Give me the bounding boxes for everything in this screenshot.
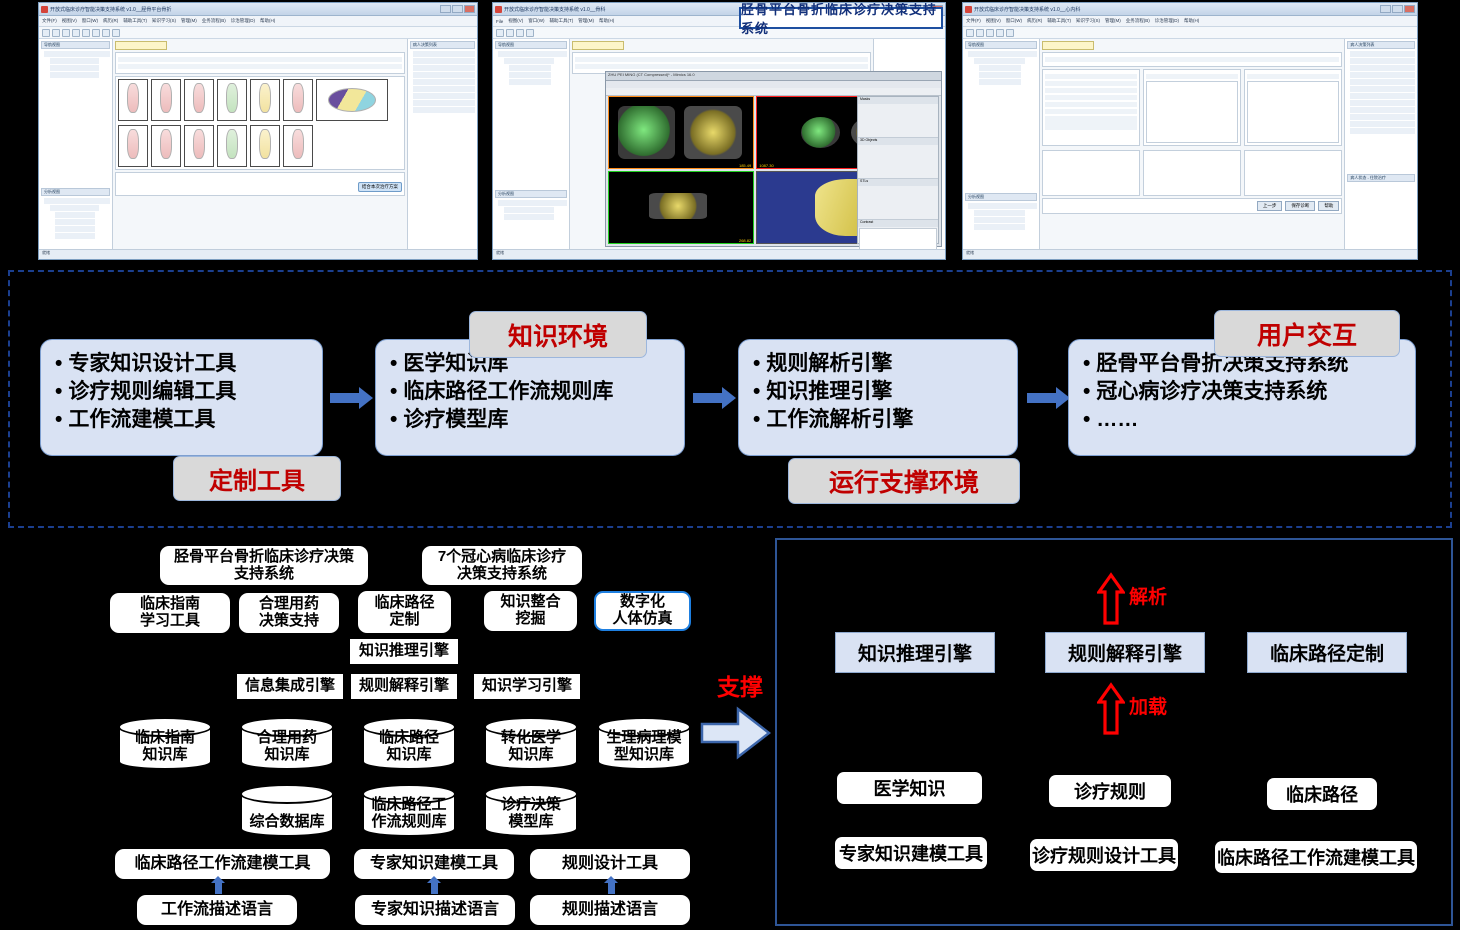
screenshot-mimics-3d-reconstruction[interactable]: 开放式临床诊疗智能决策支持系统 v1.0__骨科 File 视图(V) 窗口(W… <box>492 2 946 260</box>
menu-item[interactable]: 窗口(W) <box>1006 18 1022 24</box>
menu-item[interactable]: 管理(M) <box>1105 18 1121 24</box>
tree-item[interactable] <box>979 79 1021 85</box>
decision-pane-header: 病人决策列表 <box>410 41 475 49</box>
copy-icon[interactable] <box>1006 29 1014 37</box>
flow-box-design-tools[interactable]: 专家知识设计工具 诊疗规则编辑工具 工作流建模工具 <box>40 339 323 456</box>
viewport-value: 268.82 <box>739 238 751 243</box>
toolbar[interactable] <box>39 27 477 39</box>
field-row[interactable] <box>1045 81 1137 86</box>
connector-arrow-rule <box>608 882 615 894</box>
thumbnail-grid-2[interactable] <box>118 125 401 167</box>
engine-box-rule-interpretation[interactable]: 规则解释引擎 <box>1045 632 1205 673</box>
app-icon <box>41 6 48 13</box>
window-controls[interactable] <box>440 5 475 13</box>
cut-icon[interactable] <box>996 29 1004 37</box>
tree-item[interactable] <box>974 217 1025 223</box>
panel-tabs-3dobjects[interactable]: 3D Objects <box>858 138 938 145</box>
parse-label: 解析 <box>1129 582 1167 609</box>
fracture-thumbnail[interactable] <box>151 125 181 167</box>
engine-box-pathway-customization[interactable]: 临床路径定制 <box>1247 632 1407 673</box>
tree-item[interactable] <box>974 58 1025 64</box>
tree-item[interactable] <box>50 72 99 78</box>
tag-knowledge-environment: 知识环境 <box>469 311 647 358</box>
record-group <box>1244 69 1342 146</box>
fracture-thumbnail[interactable] <box>118 125 148 167</box>
maximize-icon[interactable] <box>452 5 463 13</box>
analysis-pane-header: 分析视图 <box>965 193 1037 201</box>
list-item[interactable] <box>1350 121 1415 127</box>
cyl-label: 合理用药 知识库 <box>257 730 317 768</box>
engine-box-rule-interpretation[interactable]: 规则解释引擎 <box>351 674 457 699</box>
menu-item[interactable]: 帮助(H) <box>1184 18 1199 24</box>
new-icon[interactable] <box>496 29 504 37</box>
panel-tabs-stls[interactable]: STLs <box>858 179 938 186</box>
menu-bar[interactable]: 文件(F) 视图(V) 窗口(W) 病历(R) 辅助工具(T) 知识学习(S) … <box>963 16 1417 27</box>
tree-item[interactable] <box>509 79 551 85</box>
viewport-value: 1087.30 <box>759 163 773 168</box>
tab-strip[interactable] <box>1042 41 1342 50</box>
help-button[interactable]: 帮助 <box>1318 201 1339 211</box>
menu-item[interactable]: 业务流程(B) <box>202 18 226 24</box>
list-item[interactable] <box>413 86 475 92</box>
open-icon[interactable] <box>52 29 60 37</box>
list-item[interactable] <box>413 93 475 99</box>
menu-item[interactable]: 病历(R) <box>1027 18 1042 24</box>
knowledge-box-treatment-rules[interactable]: 诊疗规则 <box>1049 775 1171 807</box>
tag-custom-tools: 定制工具 <box>173 456 341 501</box>
support-arrow-icon <box>700 706 780 765</box>
load-arrow-icon <box>1097 682 1123 736</box>
knowledge-box-clinical-pathway[interactable]: 临床路径 <box>1267 778 1377 810</box>
tree-item[interactable] <box>55 219 95 225</box>
status-bar: 就绪 <box>493 249 945 259</box>
field-row[interactable] <box>1045 102 1137 107</box>
list-item[interactable] <box>413 107 475 113</box>
menu-item[interactable]: 视图(V) <box>62 18 77 24</box>
list-item[interactable] <box>1350 58 1415 64</box>
maximize-icon[interactable] <box>1392 5 1403 13</box>
panel-tabs-contrast[interactable]: Contrast <box>858 220 938 227</box>
tree-item[interactable] <box>504 58 554 64</box>
field-row <box>118 57 401 62</box>
status-bar: 就绪 <box>963 249 1417 259</box>
flow-box-engines[interactable]: 规则解析引擎 知识推理引擎 工作流解析引擎 <box>738 339 1018 456</box>
menu-item[interactable]: File <box>496 19 503 24</box>
list-item[interactable] <box>1350 93 1415 99</box>
flow-item: 工作流建模工具 <box>55 406 310 434</box>
nav-pane-header: 导航视图 <box>41 41 110 49</box>
patient-basic-info-group <box>1042 69 1140 146</box>
flow-item: 冠心病诊疗决策支持系统 <box>1083 378 1403 406</box>
flow-item: …… <box>1083 406 1403 434</box>
slide-root: 开放式临床诊疗智能决策支持系统 v1.0__胫骨平台骨折 文件(F) 视图(V)… <box>0 0 1460 930</box>
flow-item: 专家知识设计工具 <box>55 350 310 378</box>
cyl-label: 临床路径工 作流规则库 <box>371 797 446 835</box>
fracture-thumbnail[interactable] <box>184 79 214 121</box>
tree-item[interactable] <box>974 210 1025 216</box>
field-row[interactable] <box>1045 88 1137 93</box>
menu-item[interactable]: 诊治管理(D) <box>1155 18 1179 24</box>
classification-card <box>115 76 404 170</box>
field-row <box>575 64 868 69</box>
cyl-label: 转化医学 知识库 <box>501 730 561 768</box>
close-icon[interactable] <box>464 5 475 13</box>
tree-root[interactable] <box>44 51 110 57</box>
window-titlebar: 开放式临床诊疗智能决策支持系统 v1.0__心内科 <box>963 3 1417 16</box>
menu-item[interactable]: 业务流程(B) <box>1126 18 1150 24</box>
navigation-pane[interactable]: 导航视图 分析视图 <box>39 39 113 249</box>
list-item[interactable] <box>413 79 475 85</box>
menu-item[interactable]: 文件(F) <box>42 18 57 24</box>
list-item[interactable] <box>413 100 475 106</box>
tag-user-interaction: 用户交互 <box>1214 310 1400 357</box>
flow-item: 诊疗规则编辑工具 <box>55 378 310 406</box>
menu-item[interactable]: 窗口(W) <box>82 18 98 24</box>
fracture-thumbnail[interactable] <box>217 79 247 121</box>
analysis-pane-header: 分析视图 <box>495 190 567 198</box>
diagnosis-input[interactable] <box>1146 74 1238 79</box>
menu-item[interactable]: 帮助(H) <box>599 18 614 24</box>
new-icon[interactable] <box>42 29 50 37</box>
mimics-titlebar: ZHU PEI MING (CT Compressed)* - Mimics 1… <box>606 72 941 81</box>
language-box-expert-knowledge-description[interactable]: 专家知识描述语言 <box>355 895 515 925</box>
tree-item[interactable] <box>55 212 95 218</box>
mimics-side-panels[interactable]: Masks 3D Objects STLs Contrast <box>857 96 939 244</box>
three-column-diagram[interactable] <box>316 79 388 121</box>
system-banner-title: 胫骨平台骨折临床诊疗决策支持系统 <box>739 7 943 29</box>
field-row[interactable] <box>1045 95 1137 100</box>
tree-item[interactable] <box>509 72 551 78</box>
decision-list-pane[interactable]: 病人决策列表 病人状态 - 住院治疗 <box>1344 39 1417 249</box>
arrow-3 <box>1027 393 1057 403</box>
save-diagnosis-button[interactable]: 保存诊断 <box>1285 201 1315 211</box>
basic-info-card <box>115 52 404 74</box>
right-footer-label: 病人状态 - 住院治疗 <box>1347 174 1415 182</box>
support-connector: 支撑 <box>700 668 780 765</box>
viewport-sagittal[interactable]: 268.82 <box>608 171 754 244</box>
engine-box-knowledge-reasoning[interactable]: 知识推理引擎 <box>350 639 458 664</box>
tree-root[interactable] <box>44 198 110 204</box>
tree-item[interactable] <box>979 72 1021 78</box>
kb-cylinder-clinical-pathway[interactable]: 临床路径 知识库 <box>362 717 456 770</box>
paste-icon[interactable] <box>92 29 100 37</box>
list-item[interactable] <box>1350 51 1415 57</box>
tool-box-guideline-learning[interactable]: 临床指南 学习工具 <box>110 593 230 633</box>
menu-item[interactable]: 知识学习(S) <box>152 18 176 24</box>
open-icon[interactable] <box>506 29 514 37</box>
tree-item[interactable] <box>509 65 551 71</box>
arrow-2 <box>693 393 723 403</box>
modeling-tool-rule-design[interactable]: 规则设计工具 <box>530 849 690 879</box>
decision-list-pane[interactable]: 病人决策列表 <box>407 39 477 249</box>
nav-pane-header: 导航视图 <box>495 41 567 49</box>
confirm-treatment-button[interactable]: 结合本次治疗方案 <box>358 182 402 192</box>
field-row <box>118 64 401 69</box>
tag-runtime-environment: 运行支撑环境 <box>788 458 1020 504</box>
field-row <box>1045 57 1339 62</box>
menu-item[interactable]: 管理(M) <box>181 18 197 24</box>
menu-item[interactable]: 病历(R) <box>103 18 118 24</box>
menu-item[interactable]: 窗口(W) <box>528 18 544 24</box>
platform-stack-diagram: 胫骨平台骨折临床诊疗决策 支持系统 7个冠心病临床诊疗 决策支持系统 临床指南 … <box>0 535 770 930</box>
doctor-info-card <box>1042 52 1342 67</box>
kb-cylinder-translational-medicine[interactable]: 转化医学 知识库 <box>484 717 578 770</box>
flow-item: 工作流解析引擎 <box>753 406 1005 434</box>
tree-item[interactable] <box>50 205 99 211</box>
tab-outpatient-record[interactable] <box>1042 41 1094 50</box>
fracture-thumbnail[interactable] <box>283 79 313 121</box>
tab-strip[interactable] <box>572 41 871 50</box>
list-item[interactable] <box>413 72 475 78</box>
tree-root[interactable] <box>968 51 1037 57</box>
window-title: 开放式临床诊疗智能决策支持系统 v1.0__心内科 <box>974 6 1080 13</box>
fracture-thumbnail[interactable] <box>151 79 181 121</box>
mimics-toolbar[interactable] <box>606 88 941 96</box>
db-cylinder-pathway-workflow-rules[interactable]: 临床路径工 作流规则库 <box>362 784 456 837</box>
screenshot-outpatient-record[interactable]: 开放式临床诊疗智能决策支持系统 v1.0__心内科 文件(F) 视图(V) 窗口… <box>962 2 1418 260</box>
window-body: 导航视图 分析视图 <box>963 39 1417 249</box>
list-item[interactable] <box>1350 100 1415 106</box>
chief-symptoms-group <box>1143 150 1241 196</box>
menu-item[interactable]: 视图(V) <box>508 18 523 24</box>
tab-exam-result[interactable] <box>572 41 624 50</box>
list-item[interactable] <box>1350 128 1415 134</box>
cyl-label: 诊疗决策 模型库 <box>501 797 561 835</box>
fracture-thumbnail[interactable] <box>184 125 214 167</box>
tree-item[interactable] <box>974 224 1025 230</box>
panel-tabs-masks[interactable]: Masks <box>858 97 938 104</box>
tree-item[interactable] <box>979 65 1021 71</box>
save-icon[interactable] <box>62 29 70 37</box>
runtime-detail-panel: 解析 知识推理引擎 规则解释引擎 临床路径定制 加载 医学知识 诊疗规则 临床路… <box>775 538 1453 926</box>
undo-icon[interactable] <box>102 29 110 37</box>
menu-item[interactable]: 文件(F) <box>966 18 981 24</box>
engine-box-knowledge-learning[interactable]: 知识学习引擎 <box>474 674 580 699</box>
tree-item[interactable] <box>55 233 95 239</box>
field-row[interactable] <box>1045 74 1137 79</box>
navigation-pane[interactable]: 导航视图 分析视图 <box>963 39 1040 249</box>
chief-signs-group <box>1244 150 1342 196</box>
fracture-thumbnail[interactable] <box>250 79 280 121</box>
tool-box-treatment-rule-design[interactable]: 诊疗规则设计工具 <box>1030 839 1178 871</box>
redo-icon[interactable] <box>112 29 120 37</box>
list-item[interactable] <box>413 65 475 71</box>
tree-item[interactable] <box>504 214 554 220</box>
modeling-tool-pathway-workflow[interactable]: 临床路径工作流建模工具 <box>115 849 330 879</box>
tab-fracture-classification-wizard[interactable] <box>115 41 167 50</box>
print-icon[interactable] <box>526 29 534 37</box>
tree-item[interactable] <box>50 65 99 71</box>
tool-box-knowledge-integration[interactable]: 知识整合 挖掘 <box>484 591 577 631</box>
arrow-1 <box>330 393 360 403</box>
viewport-value: 185.49 <box>739 163 751 168</box>
list-item[interactable] <box>1350 79 1415 85</box>
window-title: 开放式临床诊疗智能决策支持系统 v1.0__胫骨平台骨折 <box>50 6 171 13</box>
form-columns-2 <box>1042 150 1342 198</box>
minimize-icon[interactable] <box>1380 5 1391 13</box>
tool-box-digital-human-simulation[interactable]: 数字化 人体仿真 <box>594 591 691 631</box>
past-history-group <box>1042 150 1140 196</box>
db-cylinder-integrated-database[interactable]: 综合数据库 <box>240 784 334 837</box>
tree-root[interactable] <box>498 200 567 206</box>
flow-item: 临床路径工作流规则库 <box>390 378 672 406</box>
screenshot-tibial-plateau-classification[interactable]: 开放式临床诊疗智能决策支持系统 v1.0__胫骨平台骨折 文件(F) 视图(V)… <box>38 2 478 260</box>
prev-step-button[interactable]: 上一步 <box>1257 201 1283 211</box>
main-pane: 结合本次治疗方案 <box>113 39 406 249</box>
window-titlebar: 开放式临床诊疗智能决策支持系统 v1.0__胫骨平台骨折 <box>39 3 477 16</box>
kb-cylinder-physiopathology-model[interactable]: 生理病理模 型知识库 <box>597 717 691 770</box>
language-box-workflow-description[interactable]: 工作流描述语言 <box>137 895 297 925</box>
record-input[interactable] <box>1247 74 1339 79</box>
tab-strip[interactable] <box>115 41 404 50</box>
menu-item[interactable]: 辅助工具(T) <box>1047 18 1071 24</box>
parse-arrow-icon <box>1097 572 1123 626</box>
toolbar[interactable] <box>963 27 1417 39</box>
window-body: 导航视图 分析视图 <box>39 39 477 249</box>
language-box-rule-description[interactable]: 规则描述语言 <box>530 895 690 925</box>
mimics-menubar[interactable] <box>606 81 941 88</box>
diagnosis-group <box>1143 69 1241 146</box>
field-row[interactable] <box>1045 116 1137 130</box>
cut-icon[interactable] <box>72 29 80 37</box>
form-columns <box>1042 69 1342 148</box>
cyl-label: 临床路径 知识库 <box>379 730 439 768</box>
diagnosis-list[interactable] <box>1146 81 1238 143</box>
list-item[interactable] <box>413 58 475 64</box>
load-label: 加载 <box>1129 692 1167 719</box>
mimics-subwindow[interactable]: ZHU PEI MING (CT Compressed)* - Mimics 1… <box>605 71 942 247</box>
decision-pane-header: 病人决策列表 <box>1347 41 1415 49</box>
menu-item[interactable]: 诊治管理(D) <box>231 18 255 24</box>
copy-icon[interactable] <box>82 29 90 37</box>
db-cylinder-decision-model[interactable]: 诊疗决策 模型库 <box>484 784 578 837</box>
list-item[interactable] <box>1350 86 1415 92</box>
tree-item[interactable] <box>504 207 554 213</box>
list-item[interactable] <box>413 51 475 57</box>
connector-arrow-workflow <box>215 882 222 894</box>
fracture-thumbnail[interactable] <box>118 79 148 121</box>
tool-box-expert-knowledge-modeling[interactable]: 专家知识建模工具 <box>835 837 987 869</box>
menu-item[interactable]: 视图(V) <box>986 18 1001 24</box>
system-box-chd[interactable]: 7个冠心病临床诊疗 决策支持系统 <box>422 546 582 585</box>
engine-box-information-integration[interactable]: 信息集成引擎 <box>237 674 343 699</box>
navigation-pane[interactable]: 导航视图 分析视图 <box>493 39 570 249</box>
cyl-label: 临床指南 知识库 <box>135 730 195 768</box>
connector-arrow-expert <box>431 882 438 894</box>
tree-item[interactable] <box>50 58 99 64</box>
status-bar: 就绪 <box>39 249 477 259</box>
tool-box-rational-drug-use[interactable]: 合理用药 决策支持 <box>239 593 339 633</box>
app-icon <box>965 6 972 13</box>
system-box-tibial[interactable]: 胫骨平台骨折临床诊疗决策 支持系统 <box>160 546 368 585</box>
menu-bar[interactable]: 文件(F) 视图(V) 窗口(W) 病历(R) 辅助工具(T) 知识学习(S) … <box>39 16 477 27</box>
list-item[interactable] <box>1350 65 1415 71</box>
flow-item: 知识推理引擎 <box>753 378 1005 406</box>
field-row[interactable] <box>1045 109 1137 114</box>
engine-box-knowledge-reasoning[interactable]: 知识推理引擎 <box>835 632 995 673</box>
tool-box-pathway-customization[interactable]: 临床路径 定制 <box>358 591 451 633</box>
list-item[interactable] <box>1350 114 1415 120</box>
fracture-thumbnail[interactable] <box>250 125 280 167</box>
open-icon[interactable] <box>976 29 984 37</box>
menu-item[interactable]: 管理(M) <box>578 18 594 24</box>
list-item[interactable] <box>1350 72 1415 78</box>
tool-box-pathway-workflow-modeling[interactable]: 临床路径工作流建模工具 <box>1215 841 1417 873</box>
record-list[interactable] <box>1247 81 1339 143</box>
cyl-label: 生理病理模 型知识库 <box>606 730 681 768</box>
tree-root[interactable] <box>968 203 1037 209</box>
support-label: 支撑 <box>700 668 780 702</box>
window-controls[interactable] <box>1380 5 1415 13</box>
menu-item[interactable]: 帮助(H) <box>260 18 275 24</box>
menu-item[interactable]: 知识学习(S) <box>1076 18 1100 24</box>
tree-root[interactable] <box>498 51 567 57</box>
modeling-tool-expert-knowledge[interactable]: 专家知识建模工具 <box>354 849 514 879</box>
app-icon <box>495 6 502 13</box>
tree-item[interactable] <box>55 226 95 232</box>
save-icon[interactable] <box>516 29 524 37</box>
action-card: 结合本次治疗方案 <box>115 172 404 196</box>
cyl-label: 综合数据库 <box>249 814 324 835</box>
nav-pane-header: 导航视图 <box>965 41 1037 49</box>
field-row <box>575 57 868 62</box>
thumbnail-grid[interactable] <box>118 79 401 121</box>
flow-item: 规则解析引擎 <box>753 350 1005 378</box>
kb-cylinder-clinical-guideline[interactable]: 临床指南 知识库 <box>118 717 212 770</box>
analysis-pane-header: 分析视图 <box>41 188 110 196</box>
main-pane: 上一步 保存诊断 帮助 <box>1040 39 1344 249</box>
fracture-thumbnail[interactable] <box>283 125 313 167</box>
close-icon[interactable] <box>1404 5 1415 13</box>
action-card: 上一步 保存诊断 帮助 <box>1042 198 1342 214</box>
viewport-coronal[interactable]: 185.49 <box>608 96 754 169</box>
menu-item[interactable]: 辅助工具(T) <box>123 18 147 24</box>
knowledge-box-medical[interactable]: 医学知识 <box>837 772 982 804</box>
list-item[interactable] <box>1350 107 1415 113</box>
menu-item[interactable]: 辅助工具(T) <box>550 18 574 24</box>
window-title: 开放式临床诊疗智能决策支持系统 v1.0__骨科 <box>504 6 605 13</box>
flow-item: 诊疗模型库 <box>390 406 672 434</box>
minimize-icon[interactable] <box>440 5 451 13</box>
new-icon[interactable] <box>966 29 974 37</box>
kb-cylinder-rational-drug[interactable]: 合理用药 知识库 <box>240 717 334 770</box>
architecture-flow-section: 专家知识设计工具 诊疗规则编辑工具 工作流建模工具 定制工具 医学知识库 临床路… <box>8 270 1452 528</box>
save-icon[interactable] <box>986 29 994 37</box>
fracture-thumbnail[interactable] <box>217 125 247 167</box>
